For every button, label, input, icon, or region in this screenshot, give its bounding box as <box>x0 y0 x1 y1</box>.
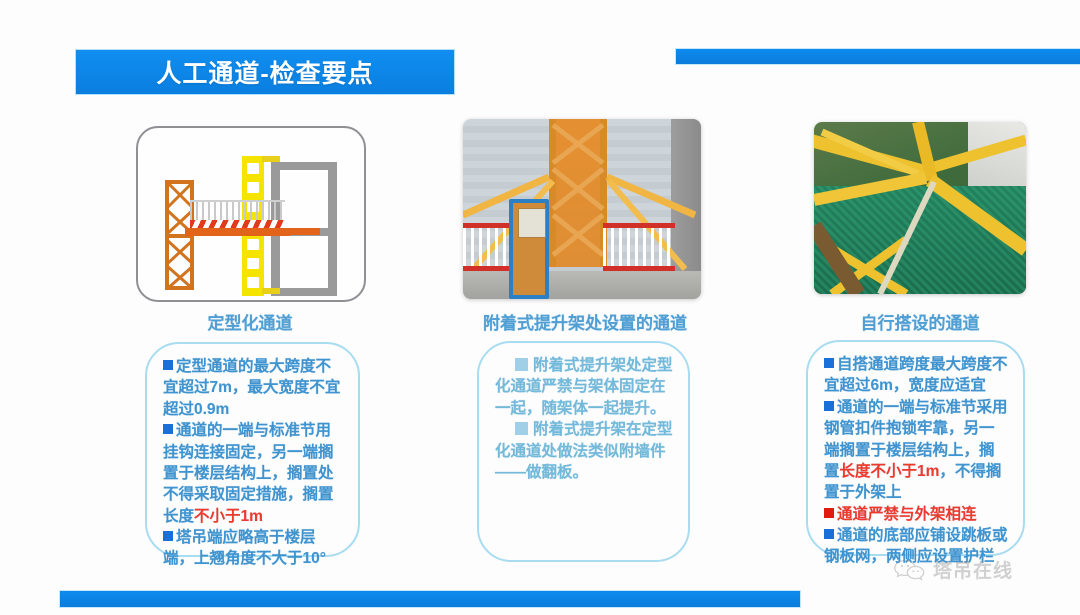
watermark: 塔吊在线 <box>893 556 1013 583</box>
square-bullet-icon-red <box>824 508 834 518</box>
caption-middle: 附着式提升架处设置的通道 <box>455 309 715 334</box>
walkway-extension <box>264 228 320 235</box>
bullet-item: 定型通道的最大跨度不宜超过7m，最大宽度不宜超过0.9m <box>163 356 344 420</box>
self-built-passage-photo <box>814 122 1026 294</box>
photo-railing-left <box>463 223 511 271</box>
building-slab-bottom <box>271 288 337 296</box>
caption-left: 定型化通道 <box>140 309 360 334</box>
square-bullet-icon <box>515 358 528 371</box>
highlight-text: 不小于1m <box>194 508 263 525</box>
bullet-item: 通道的一端与标准节用挂钩连接固定，另一端搁置于楼层结构上，搁置处不得采取固定措施… <box>163 420 344 527</box>
square-bullet-icon <box>163 424 173 434</box>
building-slab-top <box>271 162 337 170</box>
bullet-box-middle: 附着式提升架处定型化通道严禁与架体固定在一起，随架体一起提升。 附着式提升架在定… <box>477 341 690 562</box>
slide-title-banner: 人工通道-检查要点 <box>76 50 454 94</box>
caption-right: 自行搭设的通道 <box>800 309 1040 334</box>
square-bullet-icon <box>824 401 834 411</box>
bottom-accent-bar <box>60 591 800 607</box>
bullet-item: 附着式提升架在定型化通道处做法类似附墙件——做翻板。 <box>495 419 674 483</box>
square-bullet-icon <box>824 358 834 368</box>
photo-door-window <box>518 208 546 238</box>
photo-railing-right <box>603 223 675 271</box>
bullet-item: 通道严禁与外架相连 <box>824 504 1009 525</box>
square-bullet-icon <box>163 531 173 541</box>
square-bullet-icon <box>824 529 834 539</box>
watermark-text: 塔吊在线 <box>933 556 1013 583</box>
page-title: 人工通道-检查要点 <box>156 54 373 90</box>
bullet-item: 塔吊端应略高于楼层端，上翘角度不大于10° <box>163 527 344 570</box>
highlight-text: 长度不小于1m <box>840 463 940 480</box>
attached-climbing-frame-photo <box>463 119 701 299</box>
bullet-item: 附着式提升架处定型化通道严禁与架体固定在一起，随架体一起提升。 <box>495 355 674 419</box>
photo-platform-deck <box>463 271 701 299</box>
top-right-accent-bar <box>676 49 1080 64</box>
photo-yellow-frame-svg <box>814 122 1026 294</box>
bullet-box-right: 自搭通道跨度最大跨度不宜超过6m，宽度应适宜 通道的一端与标准节采用钢管扣件抱锁… <box>806 340 1025 556</box>
square-bullet-icon <box>515 422 528 435</box>
ladder-hook-top <box>262 156 280 162</box>
square-bullet-icon <box>163 360 173 370</box>
bullet-item: 通道的一端与标准节采用钢管扣件抱锁牢靠，另一端搁置于楼层结构上，搁置长度不小于1… <box>824 397 1009 504</box>
slide-canvas: 人工通道-检查要点 <box>0 0 1080 615</box>
bullet-box-left: 定型通道的最大跨度不宜超过7m，最大宽度不宜超过0.9m 通道的一端与标准节用挂… <box>145 342 360 557</box>
ladder-hook-bottom <box>262 288 280 294</box>
photo-access-door <box>509 199 549 299</box>
wechat-bubbles-icon <box>893 558 927 582</box>
formed-passage-illustration <box>136 126 366 302</box>
bullet-item: 自搭通道跨度最大跨度不宜超过6m，宽度应适宜 <box>824 354 1009 397</box>
